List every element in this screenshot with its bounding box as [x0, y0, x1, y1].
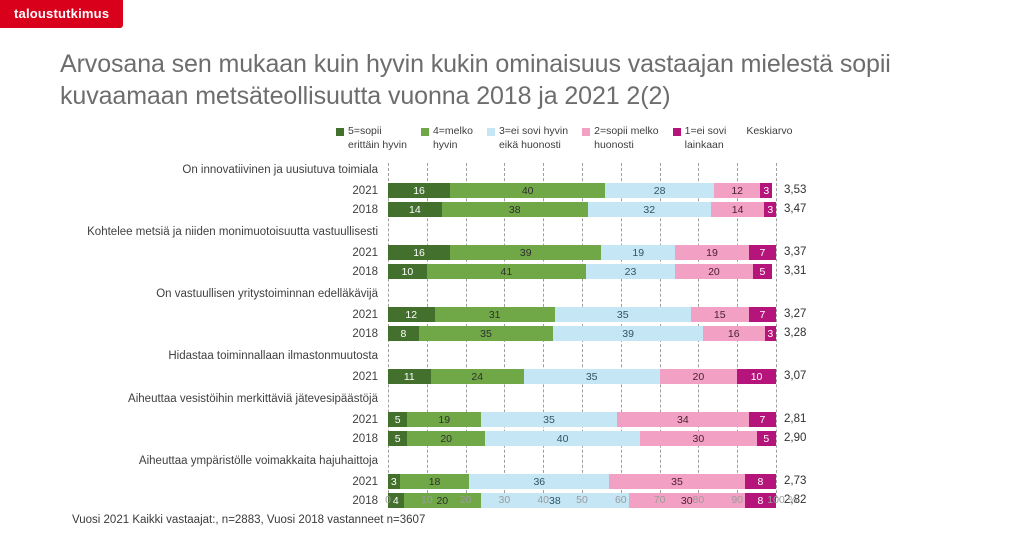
bar-segment[interactable]: 28 — [605, 183, 714, 198]
bar-segment[interactable]: 35 — [524, 369, 660, 384]
legend-item-5[interactable]: 5=sopii erittäin hyvin — [336, 125, 407, 153]
bar-segment[interactable]: 3 — [760, 183, 772, 198]
bar-segment[interactable]: 5 — [388, 412, 407, 427]
bar-segment[interactable]: 38 — [442, 202, 588, 217]
x-tick-label: 50 — [576, 494, 588, 506]
bar-segment[interactable]: 39 — [450, 245, 601, 260]
bar-segment[interactable]: 40 — [485, 431, 640, 446]
stacked-bar-row[interactable]: 143832143 — [388, 202, 776, 217]
bar-segment[interactable]: 36 — [469, 474, 609, 489]
year-label: 2018 — [352, 432, 378, 446]
category-label: Aiheuttaa ympäristölle voimakkaita hajuh… — [139, 454, 378, 468]
legend-item-label: 3=ei sovi hyvin eikä huonosti — [499, 125, 568, 153]
legend-item-3[interactable]: 3=ei sovi hyvin eikä huonosti — [487, 125, 568, 153]
year-label: 2021 — [352, 184, 378, 198]
bar-segment[interactable]: 3 — [765, 326, 777, 341]
legend-item-4[interactable]: 4=melko hyvin — [421, 125, 473, 153]
bar-segment[interactable]: 16 — [388, 183, 450, 198]
bar-segment[interactable]: 11 — [388, 369, 431, 384]
stacked-bar-row[interactable]: 104123205 — [388, 264, 776, 279]
stacked-bar-row[interactable]: 52040305 — [388, 431, 776, 446]
category-label: Kohtelee metsiä ja niiden monimuotoisuut… — [87, 225, 378, 239]
stacked-bar-row[interactable]: 31836358 — [388, 474, 776, 489]
bar-segment[interactable]: 12 — [388, 307, 435, 322]
average-value: 2,73 — [784, 474, 806, 489]
stacked-bar-row[interactable]: 1124352010 — [388, 369, 776, 384]
stacked-bar-row[interactable]: 83539163 — [388, 326, 776, 341]
stacked-bar-row[interactable]: 163919197 — [388, 245, 776, 260]
bar-segment[interactable]: 10 — [737, 369, 776, 384]
bar-segment[interactable]: 14 — [388, 202, 442, 217]
average-value: 3,53 — [784, 183, 806, 198]
average-value: 3,47 — [784, 202, 806, 217]
bar-segment[interactable]: 5 — [753, 264, 772, 279]
bar-segment[interactable]: 15 — [691, 307, 749, 322]
x-tick-label: 70 — [654, 494, 666, 506]
bar-segment[interactable]: 31 — [435, 307, 555, 322]
bar-segment[interactable]: 7 — [749, 307, 776, 322]
legend-swatch-icon — [673, 128, 681, 136]
year-label: 2018 — [352, 265, 378, 279]
year-label: 2021 — [352, 370, 378, 384]
bar-segment[interactable]: 5 — [388, 431, 407, 446]
category-label: Hidastaa toiminnallaan ilmastonmuutosta — [168, 349, 378, 363]
year-label: 2018 — [352, 327, 378, 341]
legend-average-header: Keskiarvo — [746, 125, 792, 137]
bar-segment[interactable]: 3 — [764, 202, 776, 217]
bar-segment[interactable]: 34 — [617, 412, 749, 427]
bar-segment[interactable]: 19 — [675, 245, 749, 260]
legend-item-label: 1=ei sovi lainkaan — [685, 125, 727, 153]
x-tick-label: 0 — [385, 494, 391, 506]
bar-segment[interactable]: 41 — [427, 264, 586, 279]
bar-segment[interactable]: 16 — [388, 245, 450, 260]
bar-segment[interactable]: 24 — [431, 369, 524, 384]
x-tick-label: 80 — [693, 494, 705, 506]
average-value: 2,81 — [784, 412, 806, 427]
gridline-100 — [776, 163, 777, 498]
average-value: 3,07 — [784, 369, 806, 384]
bar-segment[interactable]: 20 — [675, 264, 753, 279]
bar-segment[interactable]: 7 — [749, 245, 776, 260]
bar-segment[interactable]: 32 — [588, 202, 711, 217]
average-value: 3,28 — [784, 326, 806, 341]
year-label: 2021 — [352, 246, 378, 260]
year-label: 2021 — [352, 475, 378, 489]
bar-segment[interactable]: 35 — [481, 412, 617, 427]
bar-segment[interactable]: 23 — [586, 264, 675, 279]
bar-segment[interactable]: 3 — [388, 474, 400, 489]
bar-segment[interactable]: 12 — [714, 183, 761, 198]
x-tick-label: 90 — [731, 494, 743, 506]
category-label: Aiheuttaa vesistöihin merkittäviä jäteve… — [128, 392, 378, 406]
bar-segment[interactable]: 10 — [388, 264, 427, 279]
page-title: Arvosana sen mukaan kuin hyvin kukin omi… — [60, 48, 960, 112]
chart-plot-area: On innovatiivinen ja uusiutuva toimiala2… — [0, 163, 1023, 498]
average-value: 3,37 — [784, 245, 806, 260]
bar-segment[interactable]: 39 — [553, 326, 703, 341]
category-label: On vastuullisen yritystoiminnan edelläkä… — [156, 287, 378, 301]
x-tick-label: 10 — [421, 494, 433, 506]
x-axis: 0102030405060708090100 — [388, 494, 776, 510]
stacked-bar-row[interactable]: 164028123 — [388, 183, 776, 198]
legend-item-2[interactable]: 2=sopii melko huonosti — [582, 125, 659, 153]
bar-segment[interactable]: 16 — [703, 326, 764, 341]
x-tick-label: 20 — [460, 494, 472, 506]
category-label: On innovatiivinen ja uusiutuva toimiala — [182, 163, 378, 177]
x-axis-unit-label: % — [788, 494, 797, 506]
bar-segment[interactable]: 35 — [555, 307, 691, 322]
bar-segment[interactable]: 35 — [419, 326, 553, 341]
average-value: 3,27 — [784, 307, 806, 322]
bar-segment[interactable]: 30 — [640, 431, 756, 446]
average-value: 3,31 — [784, 264, 806, 279]
bar-segment[interactable]: 20 — [407, 431, 485, 446]
x-tick-label: 100 — [767, 494, 785, 506]
legend-item-label: 5=sopii erittäin hyvin — [348, 125, 407, 153]
bar-segment[interactable]: 7 — [749, 412, 776, 427]
year-label: 2021 — [352, 308, 378, 322]
chart-legend: 5=sopii erittäin hyvin4=melko hyvin3=ei … — [336, 125, 896, 153]
bar-segment[interactable]: 8 — [388, 326, 419, 341]
bar-segment[interactable]: 8 — [745, 474, 776, 489]
stacked-bar-row[interactable]: 123135157 — [388, 307, 776, 322]
x-tick-label: 30 — [499, 494, 511, 506]
legend-swatch-icon — [421, 128, 429, 136]
bar-segment[interactable]: 20 — [660, 369, 738, 384]
legend-item-1[interactable]: 1=ei sovi lainkaan — [673, 125, 727, 153]
legend-swatch-icon — [582, 128, 590, 136]
year-label: 2018 — [352, 494, 378, 508]
average-value: 2,90 — [784, 431, 806, 446]
brand-logo: taloustutkimus — [0, 0, 123, 28]
year-label: 2018 — [352, 203, 378, 217]
x-tick-label: 60 — [615, 494, 627, 506]
legend-item-label: 4=melko hyvin — [433, 125, 473, 153]
year-label: 2021 — [352, 413, 378, 427]
bar-segment[interactable]: 18 — [400, 474, 470, 489]
legend-swatch-icon — [487, 128, 495, 136]
chart-footnote: Vuosi 2021 Kaikki vastaajat:, n=2883, Vu… — [72, 514, 425, 526]
bar-segment[interactable]: 5 — [757, 431, 776, 446]
x-tick-label: 40 — [537, 494, 549, 506]
bar-segment[interactable]: 35 — [609, 474, 745, 489]
stacked-bar-row[interactable]: 51935347 — [388, 412, 776, 427]
bar-segment[interactable]: 14 — [711, 202, 765, 217]
legend-item-label: 2=sopii melko huonosti — [594, 125, 659, 153]
bar-segment[interactable]: 19 — [407, 412, 481, 427]
bar-segment[interactable]: 40 — [450, 183, 605, 198]
bar-segment[interactable]: 19 — [601, 245, 675, 260]
legend-swatch-icon — [336, 128, 344, 136]
